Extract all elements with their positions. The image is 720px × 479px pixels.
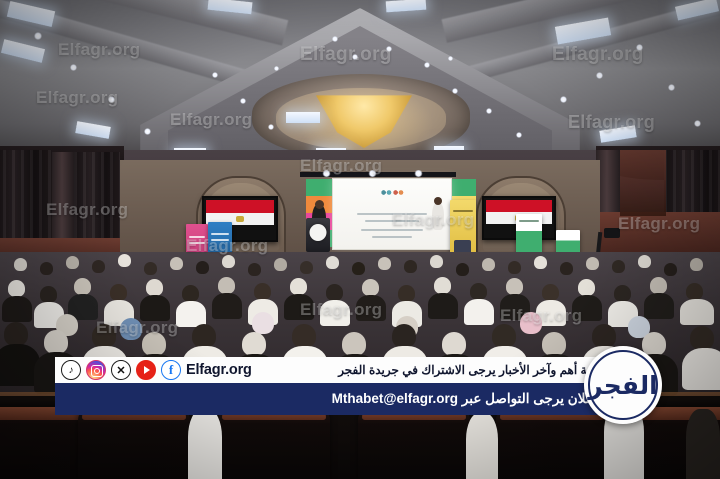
stage-spot xyxy=(414,170,423,177)
panel-light xyxy=(599,125,636,142)
spot-light xyxy=(636,44,643,51)
stage-spot xyxy=(368,170,377,177)
speaker-head xyxy=(315,200,324,209)
spot-light xyxy=(486,108,492,114)
stage-presenter xyxy=(432,202,444,230)
spot-light xyxy=(448,56,453,61)
spot-light xyxy=(332,36,338,42)
panel-light xyxy=(286,112,320,123)
slide-logo xyxy=(377,188,407,197)
spot-light xyxy=(694,120,701,127)
stage-spot xyxy=(322,170,331,177)
al-fagr-logo-text: الفجر xyxy=(588,373,658,398)
spot-light xyxy=(424,62,430,68)
spot-light xyxy=(212,72,218,78)
spot-light xyxy=(274,66,279,71)
attendee-foreground xyxy=(466,413,498,479)
screenshot-root: Elfagr.orgElfagr.orgElfagr.orgElfagr.org… xyxy=(0,0,720,479)
podium xyxy=(306,218,330,252)
spot-light xyxy=(596,72,603,79)
spot-light xyxy=(144,128,151,135)
al-fagr-logo: الفجر xyxy=(584,346,662,424)
youtube-icon[interactable] xyxy=(136,360,156,380)
wood-panel-right-upper xyxy=(620,150,666,216)
facebook-icon[interactable]: f xyxy=(161,360,181,380)
spot-light xyxy=(516,132,522,138)
spot-light xyxy=(386,46,392,52)
ad-headline: لمتابعة أهم وآخر الأخبار يرجى الاشتراك ف… xyxy=(338,363,614,377)
spot-light xyxy=(240,98,246,104)
al-fagr-logo-ring: الفجر xyxy=(588,350,658,420)
brand-text: Elfagr.org xyxy=(186,362,252,378)
spot-light xyxy=(452,88,458,94)
ad-banner-top-row: ♪ ✕ f Elfagr.org لمتابعة أهم وآخر الأخبا… xyxy=(55,357,620,383)
presenter-head xyxy=(434,197,442,205)
spot-light xyxy=(268,124,274,130)
spot-light xyxy=(668,84,675,91)
attendee-foreground xyxy=(188,409,222,479)
attendee-foreground xyxy=(686,409,720,479)
x-twitter-icon[interactable]: ✕ xyxy=(111,360,131,380)
spot-light xyxy=(352,54,358,60)
tiktok-icon[interactable]: ♪ xyxy=(61,360,81,380)
spot-light xyxy=(108,96,115,103)
ad-contact-text: للإعلان يرجى التواصل عبر Mthabet@elfagr.… xyxy=(332,391,606,407)
panel-light xyxy=(75,121,111,139)
panel-light xyxy=(1,39,45,63)
spot-light xyxy=(560,96,567,103)
spot-light xyxy=(70,64,77,71)
ad-banner-bottom-row: للإعلان يرجى التواصل عبر Mthabet@elfagr.… xyxy=(55,383,620,415)
video-camera xyxy=(604,228,620,238)
instagram-icon[interactable] xyxy=(86,360,106,380)
ad-banner: ♪ ✕ f Elfagr.org لمتابعة أهم وآخر الأخبا… xyxy=(55,357,662,415)
panel-light xyxy=(386,0,427,12)
spot-light xyxy=(34,32,42,40)
